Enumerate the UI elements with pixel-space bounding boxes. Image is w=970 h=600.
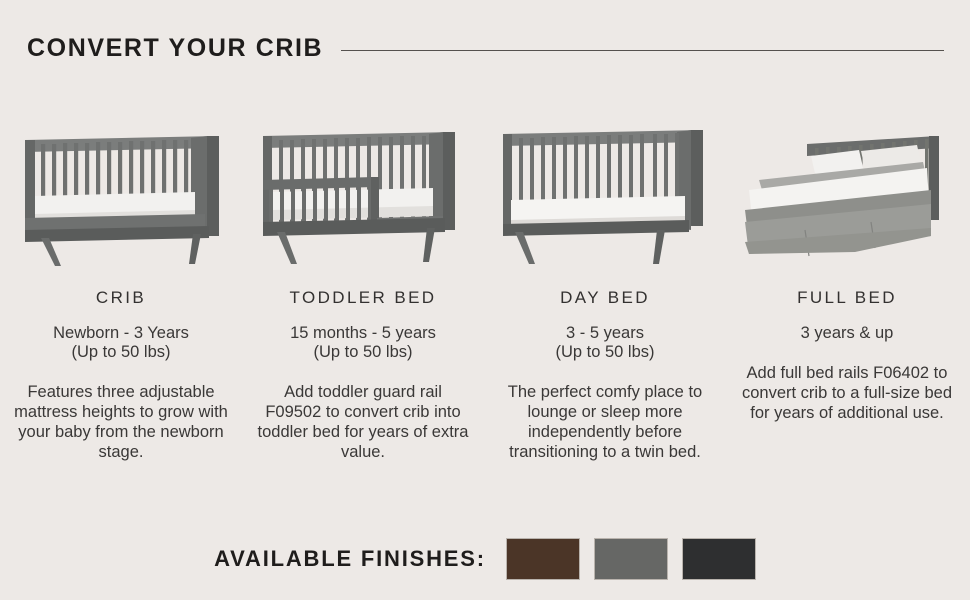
stage-age-line-1: 3 years & up xyxy=(801,324,894,343)
stage-title: TODDLER BED xyxy=(289,288,436,308)
finish-swatch-charcoal-black[interactable] xyxy=(682,538,756,580)
stage-column-crib: CRIB Newborn - 3 Years (Up to 50 lbs) Fe… xyxy=(0,118,242,462)
stage-description: The perfect comfy place to lounge or sle… xyxy=(498,382,713,462)
conversion-stages-row: CRIB Newborn - 3 Years (Up to 50 lbs) Fe… xyxy=(0,118,970,462)
stage-age-range: 3 years & up xyxy=(801,324,894,343)
page-title: CONVERT YOUR CRIB xyxy=(27,34,323,63)
stage-age-range: 15 months - 5 years (Up to 50 lbs) xyxy=(290,324,436,362)
stage-description: Add full bed rails F06402 to convert cri… xyxy=(740,363,955,423)
stage-description: Add toddler guard rail F09502 to convert… xyxy=(256,382,471,462)
header-divider-line xyxy=(341,50,944,51)
stage-age-line-2: (Up to 50 lbs) xyxy=(53,343,189,362)
stage-column-full-bed: FULL BED 3 years & up Add full bed rails… xyxy=(726,118,968,462)
stage-age-range: 3 - 5 years (Up to 50 lbs) xyxy=(555,324,654,362)
stage-title: DAY BED xyxy=(560,288,650,308)
stage-age-line-2: (Up to 50 lbs) xyxy=(290,343,436,362)
stage-title: FULL BED xyxy=(797,288,897,308)
page-header: CONVERT YOUR CRIB xyxy=(27,30,944,66)
stage-age-line-2: (Up to 50 lbs) xyxy=(555,343,654,362)
available-finishes-row: AVAILABLE FINISHES: xyxy=(0,538,970,580)
day-bed-illustration xyxy=(489,118,721,268)
stage-description: Features three adjustable mattress heigh… xyxy=(14,382,229,462)
stage-age-line-1: 15 months - 5 years xyxy=(290,324,436,343)
stage-column-toddler-bed: TODDLER BED 15 months - 5 years (Up to 5… xyxy=(242,118,484,462)
full-bed-illustration xyxy=(731,118,963,268)
toddler-bed-illustration xyxy=(247,118,479,268)
stage-column-day-bed: DAY BED 3 - 5 years (Up to 50 lbs) The p… xyxy=(484,118,726,462)
crib-illustration xyxy=(5,118,237,268)
finish-swatch-espresso-brown[interactable] xyxy=(506,538,580,580)
stage-age-line-1: 3 - 5 years xyxy=(555,324,654,343)
finish-swatch-gray[interactable] xyxy=(594,538,668,580)
available-finishes-label: AVAILABLE FINISHES: xyxy=(214,546,486,572)
stage-age-line-1: Newborn - 3 Years xyxy=(53,324,189,343)
stage-age-range: Newborn - 3 Years (Up to 50 lbs) xyxy=(53,324,189,362)
stage-title: CRIB xyxy=(96,288,146,308)
